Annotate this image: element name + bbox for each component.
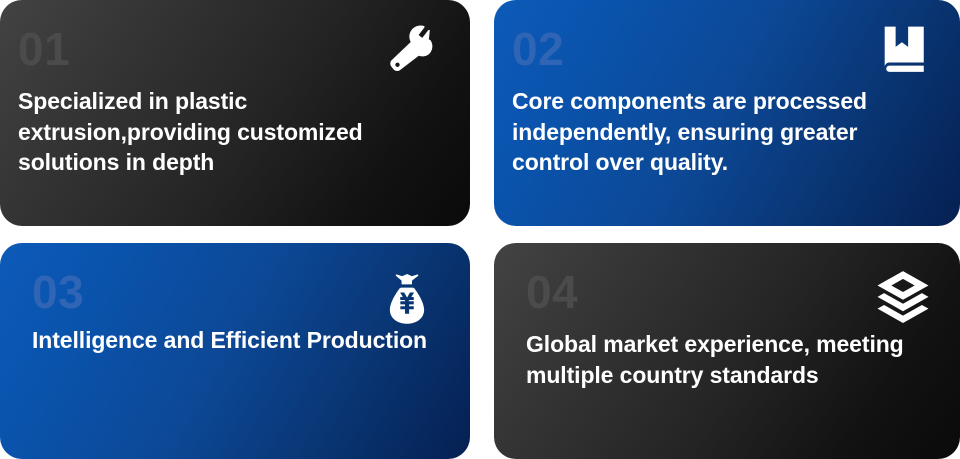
money-bag-yen-icon: [380, 271, 434, 327]
wrench-icon: [384, 24, 436, 76]
feature-card-04[interactable]: 04 Global market experience, meeting mul…: [494, 243, 960, 459]
card-number-01: 01: [18, 26, 440, 72]
card-text-03: Intelligence and Efficient Production: [32, 325, 432, 356]
feature-card-02[interactable]: 02 Core components are processed indepen…: [494, 0, 960, 226]
feature-card-grid: 01 Specialized in plastic extrusion,prov…: [0, 0, 960, 459]
feature-card-03[interactable]: 03 Intelligence and Efficient Production: [0, 243, 470, 459]
feature-card-01[interactable]: 01 Specialized in plastic extrusion,prov…: [0, 0, 470, 226]
card-text-01: Specialized in plastic extrusion,providi…: [18, 86, 440, 178]
card-number-04: 04: [526, 269, 930, 315]
card-number-02: 02: [512, 26, 930, 72]
layers-stack-icon: [874, 269, 932, 323]
card-text-02: Core components are processed independen…: [512, 86, 930, 178]
card-text-04: Global market experience, meeting multip…: [526, 329, 916, 390]
book-bookmark-icon: [880, 24, 930, 76]
card-number-03: 03: [32, 269, 440, 315]
